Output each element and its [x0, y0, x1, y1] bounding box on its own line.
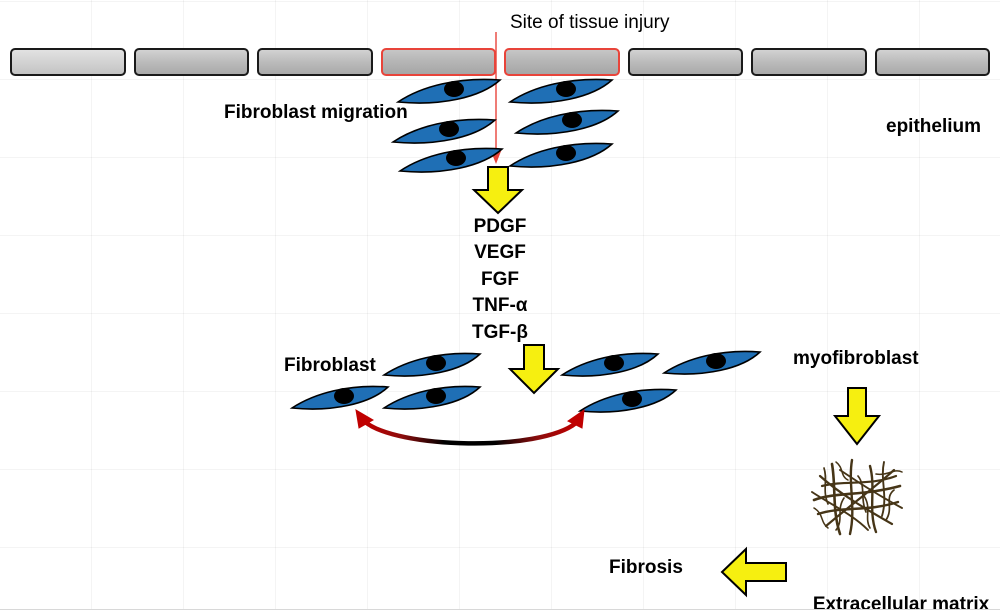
growth-factor-item: VEGF [440, 242, 560, 264]
epithelial-cell [10, 48, 126, 76]
fibroblast-cell [508, 78, 616, 108]
site-of-injury-label: Site of tissue injury [510, 12, 669, 34]
myofibroblast-cell [560, 352, 662, 381]
ecm-deposition-label-line1: Extracellular matrix [806, 594, 996, 610]
growth-factor-arrow [466, 167, 530, 215]
fibroblast-cell [382, 352, 484, 381]
fibroblast-migration-label: Fibroblast migration [224, 102, 408, 124]
fibroblast-cell [514, 109, 622, 139]
epithelial-cell [257, 48, 373, 76]
ecm-deposition-label: Extracellular matrix deposition [806, 549, 996, 610]
extracellular-matrix-mesh [806, 456, 910, 538]
growth-factor-list: PDGF VEGF FGF TNF-α TGF-β [440, 216, 560, 344]
growth-factor-item: FGF [440, 269, 560, 291]
alveolar-epithelium-label-line2: epithelium [886, 116, 981, 138]
epithelial-cell [134, 48, 250, 76]
fibroblast-cell [396, 78, 504, 108]
epithelial-cell [875, 48, 991, 76]
fibrosis-pathway-diagram: Site of tissue injury Alveolar epitheliu… [0, 0, 1000, 610]
myofibroblast-cell [662, 350, 764, 379]
epithelial-cell-injured [504, 48, 620, 76]
epithelial-cell [751, 48, 867, 76]
growth-factor-item: TGF-β [440, 322, 560, 344]
fibroblast-cell [391, 118, 499, 148]
myofibroblast-label: myofibroblast [793, 348, 919, 370]
fibroblast-transition-arrow [502, 345, 566, 395]
epithelial-cell-injured [381, 48, 497, 76]
epithelial-cell [628, 48, 744, 76]
fibrosis-label: Fibrosis [609, 557, 683, 579]
growth-factor-item: PDGF [440, 216, 560, 238]
ecm-to-fibrosis-arrow [720, 546, 790, 598]
myofibroblast-to-ecm-arrow [828, 388, 888, 446]
growth-factor-item: TNF-α [440, 295, 560, 317]
fibroblast-label: Fibroblast [284, 355, 376, 377]
alveolar-epithelium-label: Alveolar epithelium [886, 4, 981, 183]
differentiation-curved-arrow [340, 405, 600, 455]
